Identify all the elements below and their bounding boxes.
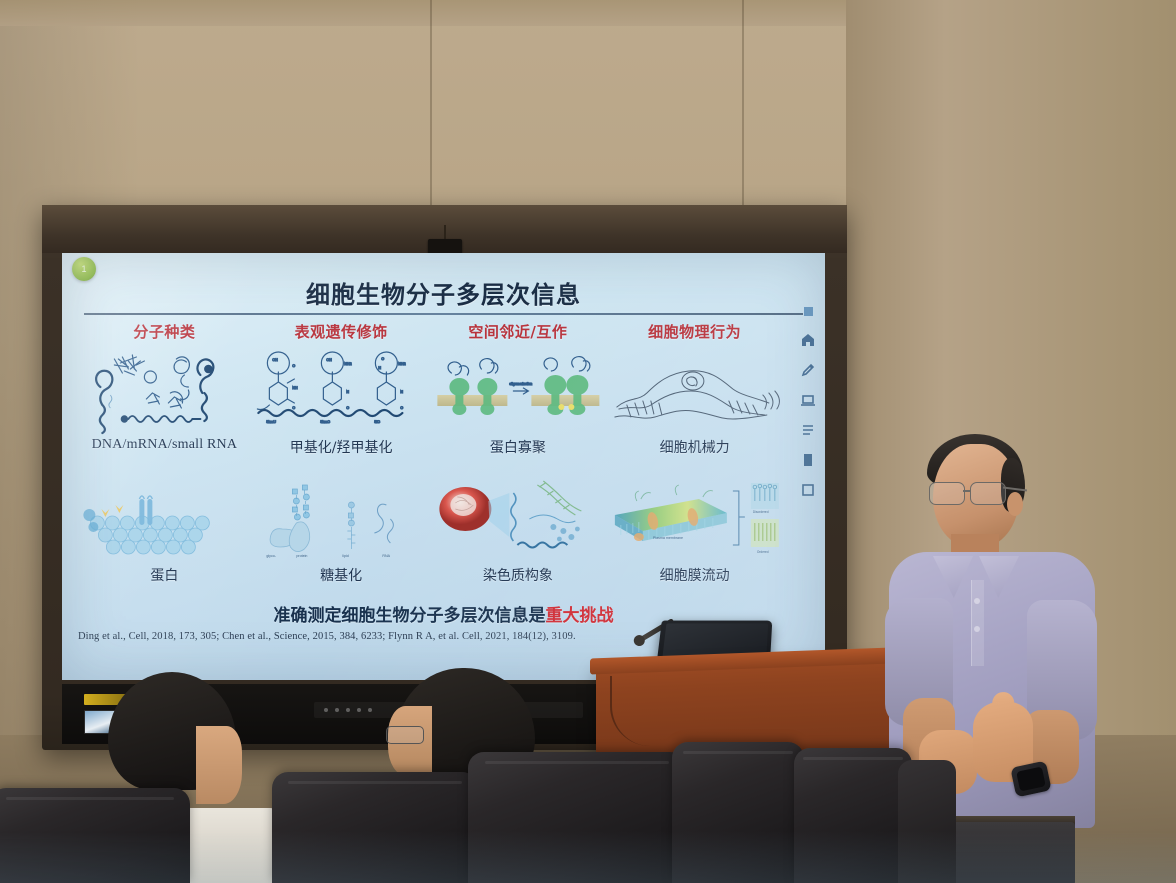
svg-text:glyco-: glyco-: [266, 554, 276, 558]
svg-text:RNA: RNA: [382, 554, 390, 558]
home-icon[interactable]: [800, 332, 816, 348]
label-methylation: 甲基化/羟甲基化: [290, 437, 393, 457]
cell-glycosylation: glyco- protein lipid RNA 糖基化: [253, 475, 430, 585]
lecture-room-scene: 1 细胞生物分子多层次信息 分子种类 表观遗传修饰 空间邻近/互作 细胞物理行为: [0, 0, 1176, 883]
svg-text:O: O: [292, 364, 295, 368]
label-dna-mrna-small-rna: DNA/mRNA/small RNA: [92, 437, 238, 453]
svg-text:O: O: [292, 406, 295, 410]
label-glycosylation: 糖基化: [320, 565, 362, 585]
art-glycosylation: glyco- protein lipid RNA: [253, 475, 430, 561]
cell-methylation: OH O NH O 5hmU: [253, 347, 430, 457]
watch-face: [1016, 767, 1046, 792]
shirt-button: [974, 626, 980, 632]
slide-title: 细胞生物分子多层次信息: [62, 275, 825, 310]
svg-text:protein: protein: [296, 554, 307, 558]
conclusion-highlight: 重大挑战: [546, 606, 614, 626]
control-button[interactable]: [346, 708, 350, 712]
control-button[interactable]: [324, 708, 328, 712]
svg-text:5hmC: 5hmC: [320, 420, 330, 424]
display-bezel: 1 细胞生物分子多层次信息 分子种类 表观遗传修饰 空间邻近/互作 细胞物理行为: [62, 253, 825, 680]
auditorium-seat-armrest: [898, 760, 956, 883]
conclusion-text: 准确测定细胞生物分子多层次信息是: [274, 606, 546, 626]
cell-protein: 蛋白: [76, 475, 253, 585]
svg-text:Ordered: Ordered: [757, 550, 769, 554]
label-chromatin-conformation: 染色质构象: [483, 565, 553, 585]
control-button[interactable]: [357, 708, 361, 712]
slide-row-1: DNA/mRNA/small RNA OH O: [76, 347, 783, 457]
svg-text:O: O: [400, 406, 403, 410]
cell-mechanics: 细胞机械力: [606, 347, 783, 457]
auditorium-seat: [672, 742, 804, 883]
art-cell-mechanics: [606, 347, 783, 433]
art-nucleic-acids: [76, 347, 253, 433]
column-heading-1: 分子种类: [76, 321, 253, 342]
svg-text:Disordered: Disordered: [753, 510, 769, 514]
svg-text:lipid: lipid: [342, 554, 348, 558]
auditorium-seat: [272, 772, 478, 883]
shirt-button: [974, 598, 980, 604]
column-heading-4: 细胞物理行为: [606, 321, 783, 342]
svg-text:NH2: NH2: [344, 362, 351, 366]
audience-member-face: [196, 726, 242, 804]
auditorium-seat: [0, 788, 190, 883]
svg-text:oligomerization: oligomerization: [509, 382, 532, 386]
svg-text:N: N: [346, 390, 349, 394]
glasses-right-lens: [970, 482, 1006, 505]
art-membrane-fluidity: Plasma membrane: [606, 475, 783, 561]
svg-text:OH: OH: [272, 358, 278, 362]
cell-membrane-fluidity: Plasma membrane: [606, 475, 783, 585]
svg-text:Plasma membrane: Plasma membrane: [653, 536, 683, 540]
svg-text:NH2: NH2: [398, 362, 405, 366]
glasses-icon: [929, 482, 1021, 504]
minimize-icon[interactable]: [804, 307, 813, 316]
glasses-left-lens: [929, 482, 965, 505]
frame-icon[interactable]: [800, 482, 816, 498]
svg-text:NH: NH: [292, 386, 298, 390]
slide-side-toolbar[interactable]: [797, 307, 819, 498]
wall-panel-seam: [430, 0, 432, 215]
laptop-icon[interactable]: [800, 392, 816, 408]
svg-text:N: N: [400, 390, 403, 394]
svg-text:5hmU: 5hmU: [266, 420, 276, 424]
cell-protein-oligomerization: oligomerization: [430, 347, 607, 457]
svg-text:OH: OH: [326, 358, 332, 362]
control-button[interactable]: [335, 708, 339, 712]
conference-camera-icon: [428, 239, 462, 254]
wall-panel-seam: [742, 0, 744, 208]
title-divider: [84, 313, 803, 315]
list-icon[interactable]: [800, 422, 816, 438]
audience-glasses-icon: [386, 726, 424, 744]
svg-text:H: H: [378, 366, 381, 370]
label-cell-mechanics: 细胞机械力: [660, 437, 730, 457]
svg-text:5fC: 5fC: [374, 420, 380, 424]
presentation-slide[interactable]: 1 细胞生物分子多层次信息 分子种类 表观遗传修饰 空间邻近/互作 细胞物理行为: [62, 253, 825, 680]
art-nucleotide-modifications: OH O NH O 5hmU: [253, 347, 430, 433]
shirt-placket: [971, 580, 984, 666]
cell-nucleic-acids: DNA/mRNA/small RNA: [76, 347, 253, 457]
svg-text:O: O: [346, 406, 349, 410]
label-membrane-fluidity: 细胞膜流动: [660, 565, 730, 585]
column-heading-2: 表观遗传修饰: [253, 321, 430, 342]
column-headings: 分子种类 表观遗传修饰 空间邻近/互作 细胞物理行为: [76, 321, 783, 342]
slide-row-2: 蛋白: [76, 475, 783, 585]
art-membrane-proteins: [76, 475, 253, 561]
pen-icon[interactable]: [800, 362, 816, 378]
cell-chromatin: 染色质构象: [430, 475, 607, 585]
document-icon[interactable]: [800, 452, 816, 468]
control-button[interactable]: [368, 708, 372, 712]
auditorium-seat: [794, 748, 912, 883]
art-protein-oligomerization: oligomerization: [430, 347, 607, 433]
label-protein: 蛋白: [150, 565, 178, 585]
auditorium-seat: [468, 752, 686, 883]
label-protein-oligomerization: 蛋白寡聚: [490, 437, 546, 457]
art-chromatin-conformation: [430, 475, 607, 561]
column-heading-3: 空间邻近/互作: [430, 321, 607, 342]
svg-text:O: O: [381, 357, 384, 361]
